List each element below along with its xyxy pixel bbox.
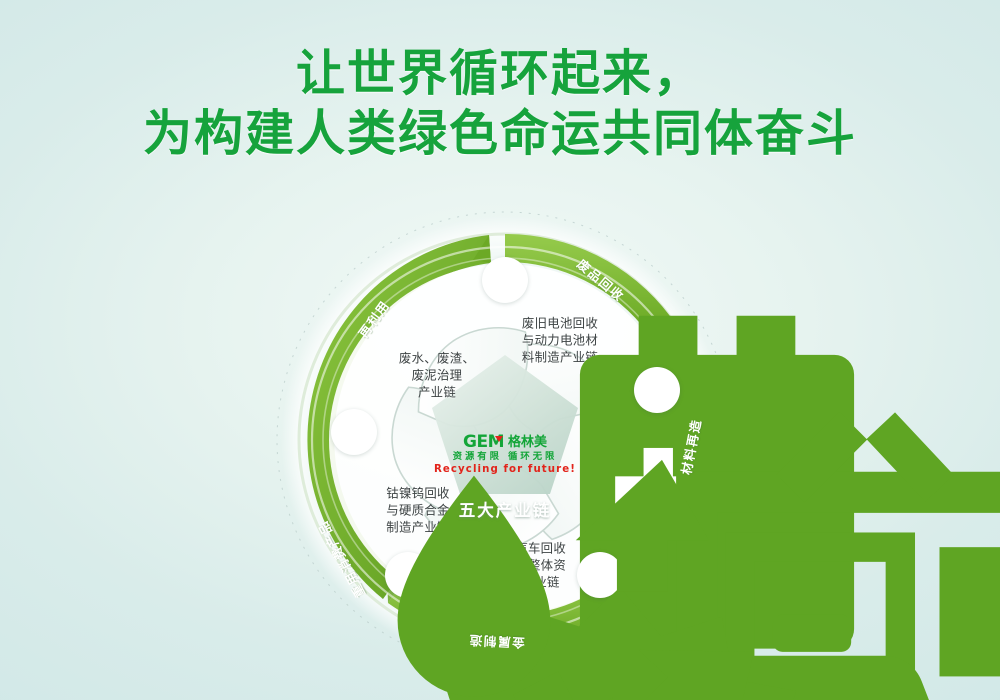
battery-icon-bubble[interactable] [482, 257, 528, 303]
page-title: 让世界循环起来， 为构建人类绿色命运共同体奋斗 [0, 44, 1000, 164]
page-title-line-2: 为构建人类绿色命运共同体奋斗 [0, 104, 1000, 164]
segment-label-waste-water: 废水、废渣、 废泥治理 产业链 [381, 349, 493, 400]
ring-label-bottom: 金属制造 [468, 632, 526, 654]
water-recycle-icon [331, 409, 801, 700]
poster-canvas: 让世界循环起来， 为构建人类绿色命运共同体奋斗 [0, 0, 1000, 700]
water-recycle-icon-bubble[interactable] [331, 409, 377, 455]
tv-icon-bubble[interactable] [634, 367, 680, 413]
circular-economy-diagram: 废旧电池回收 与动力电池材 料制造产业链 电子废弃物循 环利用与高值 化利用产业… [270, 205, 740, 675]
page-title-line-1: 让世界循环起来， [0, 44, 1000, 104]
